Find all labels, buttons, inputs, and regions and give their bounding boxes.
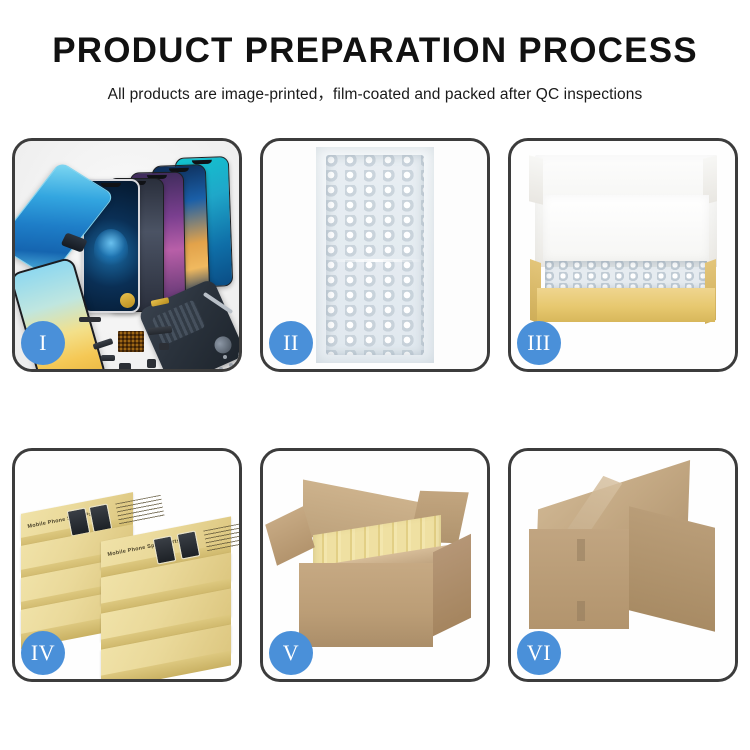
- step-badge-1: I: [21, 321, 65, 365]
- carton-front: [299, 563, 433, 647]
- screw-1: [223, 355, 227, 359]
- process-step-grid: I II II: [12, 138, 738, 682]
- step-3-image: III: [511, 141, 735, 369]
- process-step-1: I: [12, 138, 242, 372]
- jellyfish-wallpaper: [94, 229, 128, 269]
- bubble-wrap-seam: [327, 259, 423, 262]
- step-badge-4: IV: [21, 631, 65, 675]
- screw-3: [219, 367, 223, 369]
- step-2-image: II: [263, 141, 487, 369]
- vibration-motor: [120, 293, 135, 308]
- battery-connector: [159, 343, 169, 350]
- retail-box-right-4: [101, 637, 231, 665]
- retail-box-right-1: Mobile Phone Spare Parts: [101, 529, 231, 557]
- process-step-6: VI: [508, 448, 738, 682]
- step-4-image: Mobile Phone Spare Parts: [15, 451, 239, 679]
- carton-seam-top: [577, 539, 585, 561]
- inner-box-lid-wing-left: [529, 155, 543, 204]
- step-6-image: VI: [511, 451, 735, 679]
- process-step-2: II: [260, 138, 490, 372]
- inner-box-front: [537, 288, 715, 322]
- speaker-module: [119, 363, 131, 369]
- spare-part-ribbon-1: [79, 317, 101, 322]
- retail-box-right-2: [101, 565, 231, 593]
- sealed-carton-side-right: [629, 506, 715, 631]
- flex-cable-2: [101, 355, 115, 361]
- mesh-pad: [118, 331, 144, 352]
- bubble-wrap-bubbles: [326, 155, 424, 355]
- step-1-image: I: [15, 141, 239, 369]
- foam-sheet: [543, 195, 709, 261]
- step-badge-5: V: [269, 631, 313, 675]
- carton-seam-bottom: [577, 601, 585, 621]
- retail-box-right-3: [101, 601, 231, 629]
- step-badge-3: III: [517, 321, 561, 365]
- step-badge-6: VI: [517, 631, 561, 675]
- notch: [101, 183, 121, 187]
- header: PRODUCT PREPARATION PROCESS All products…: [0, 32, 750, 104]
- process-step-3: III: [508, 138, 738, 372]
- process-step-4: Mobile Phone Spare Parts: [12, 448, 242, 682]
- page-subtitle: All products are image-printed，film-coat…: [0, 82, 750, 104]
- retail-box-left-1: Mobile Phone Spare Parts: [21, 503, 133, 529]
- process-step-5: V: [260, 448, 490, 682]
- camera-module: [147, 359, 156, 368]
- page-title: PRODUCT PREPARATION PROCESS: [0, 32, 750, 71]
- step-badge-2: II: [269, 321, 313, 365]
- bubble-wrap-fill: [545, 261, 707, 289]
- infographic-page: PRODUCT PREPARATION PROCESS All products…: [0, 0, 750, 750]
- step-5-image: V: [263, 451, 487, 679]
- screw-2: [229, 363, 233, 367]
